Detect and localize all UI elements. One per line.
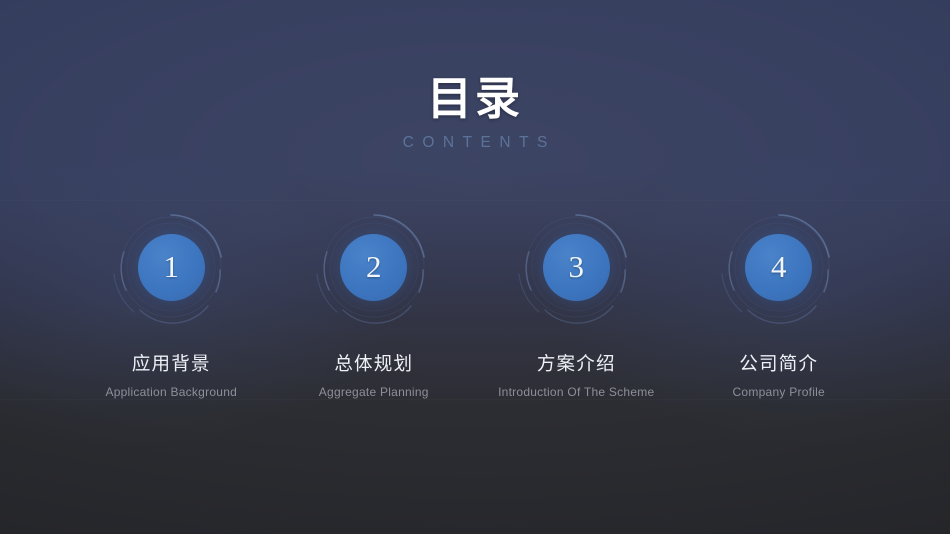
- contents-slide: 目录 CONTENTS 1 应用背景 Application Bac: [0, 0, 950, 534]
- number-badge-2[interactable]: 2: [307, 200, 441, 334]
- page-subtitle: CONTENTS: [0, 135, 950, 151]
- badge-number-label: 2: [366, 251, 382, 282]
- item-label-en-2: Aggregate Planning: [319, 386, 429, 398]
- item-label-cn-3: 方案介绍: [537, 355, 616, 374]
- badge-number-label: 3: [569, 251, 585, 282]
- number-badge-1[interactable]: 1: [104, 200, 238, 334]
- slide-header: 目录 CONTENTS: [0, 76, 950, 151]
- item-label-en-3: Introduction Of The Scheme: [498, 386, 654, 398]
- contents-item-2[interactable]: 2 总体规划 Aggregate Planning: [273, 200, 476, 398]
- contents-item-4[interactable]: 4 公司简介 Company Profile: [678, 200, 881, 398]
- badge-number-label: 4: [771, 251, 787, 282]
- item-label-cn-2: 总体规划: [334, 355, 413, 374]
- contents-item-list: 1 应用背景 Application Background 2: [70, 200, 880, 398]
- item-label-en-4: Company Profile: [733, 386, 825, 398]
- item-label-cn-1: 应用背景: [132, 355, 211, 374]
- number-badge-3[interactable]: 3: [509, 200, 643, 334]
- badge-number-label: 1: [164, 251, 180, 282]
- number-badge-4[interactable]: 4: [712, 200, 846, 334]
- badge-core-3: 3: [543, 234, 610, 301]
- contents-item-3[interactable]: 3 方案介绍 Introduction Of The Scheme: [475, 200, 678, 398]
- item-label-en-1: Application Background: [105, 386, 237, 398]
- badge-core-4: 4: [745, 234, 812, 301]
- page-title: 目录: [0, 76, 950, 121]
- contents-item-1[interactable]: 1 应用背景 Application Background: [70, 200, 273, 398]
- background-divider-lower: [0, 399, 950, 400]
- badge-core-2: 2: [340, 234, 407, 301]
- item-label-cn-4: 公司简介: [739, 355, 818, 374]
- badge-core-1: 1: [138, 234, 205, 301]
